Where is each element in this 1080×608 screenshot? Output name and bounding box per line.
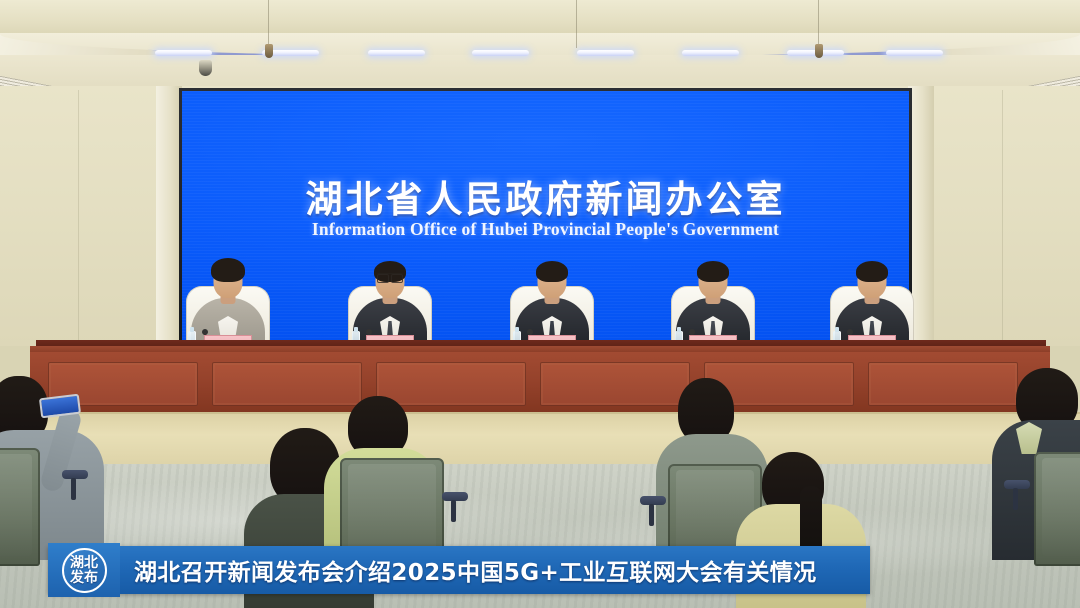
- broadcaster-logo: 湖北 发布: [48, 543, 120, 597]
- ceiling-light-strip: [577, 50, 634, 56]
- chair-armrest: [62, 470, 88, 479]
- panelist-hair: [536, 261, 568, 282]
- ceiling-light-strip: [155, 50, 212, 56]
- ceiling-speaker: [815, 44, 823, 58]
- logo-text-line-2: 发布: [70, 571, 98, 585]
- logo-text-line-1: 湖北: [70, 556, 98, 570]
- speaker-hanging-wire: [268, 0, 269, 48]
- screen-title-chinese: 湖北省人民政府新闻办公室: [182, 169, 909, 223]
- audience-member-1: [0, 368, 138, 568]
- panelist-seat-3: [492, 262, 612, 348]
- panelist-seat-5: [812, 262, 932, 348]
- wall-seam: [78, 90, 79, 340]
- panelist-seat-1: [168, 262, 288, 348]
- caption-headline: 湖北召开新闻发布会介绍2025中国5G+工业互联网大会有关情况: [134, 553, 817, 587]
- speaker-hanging-wire: [576, 0, 577, 48]
- audience-member-6: [1008, 368, 1080, 568]
- panelist-hair: [856, 261, 888, 282]
- ceiling-light-strip: [886, 50, 943, 56]
- ceiling-light-strip: [368, 50, 425, 56]
- wall-seam: [1002, 90, 1003, 340]
- chair-armrest: [442, 492, 468, 501]
- chair-armrest: [640, 496, 666, 505]
- dais-panel: [868, 362, 1018, 406]
- broadcast-frame: 湖北省人民政府新闻办公室 Information Office of Hubei…: [0, 0, 1080, 608]
- audience-chair: [0, 448, 40, 566]
- panelist-seat-2: [330, 262, 450, 348]
- screen-title-english: Information Office of Hubei Provincial P…: [182, 219, 909, 240]
- lower-third-caption-bar: 湖北 发布 湖北召开新闻发布会介绍2025中国5G+工业互联网大会有关情况: [48, 546, 870, 594]
- panelist-hair: [211, 258, 245, 282]
- panelist-seat-4: [653, 262, 773, 348]
- security-camera-icon: [199, 60, 212, 76]
- stage-riser-face: [0, 414, 1080, 466]
- ceiling-speaker: [265, 44, 273, 58]
- audience-chair: [1034, 452, 1080, 566]
- speaker-hanging-wire: [818, 0, 819, 48]
- eyeglasses-icon: [377, 273, 403, 280]
- ceiling-light-strip: [682, 50, 739, 56]
- chair-armrest: [1004, 480, 1030, 489]
- logo-circle-badge: 湖北 发布: [62, 548, 107, 593]
- panelist-hair: [697, 261, 729, 282]
- ceiling-light-strip: [472, 50, 529, 56]
